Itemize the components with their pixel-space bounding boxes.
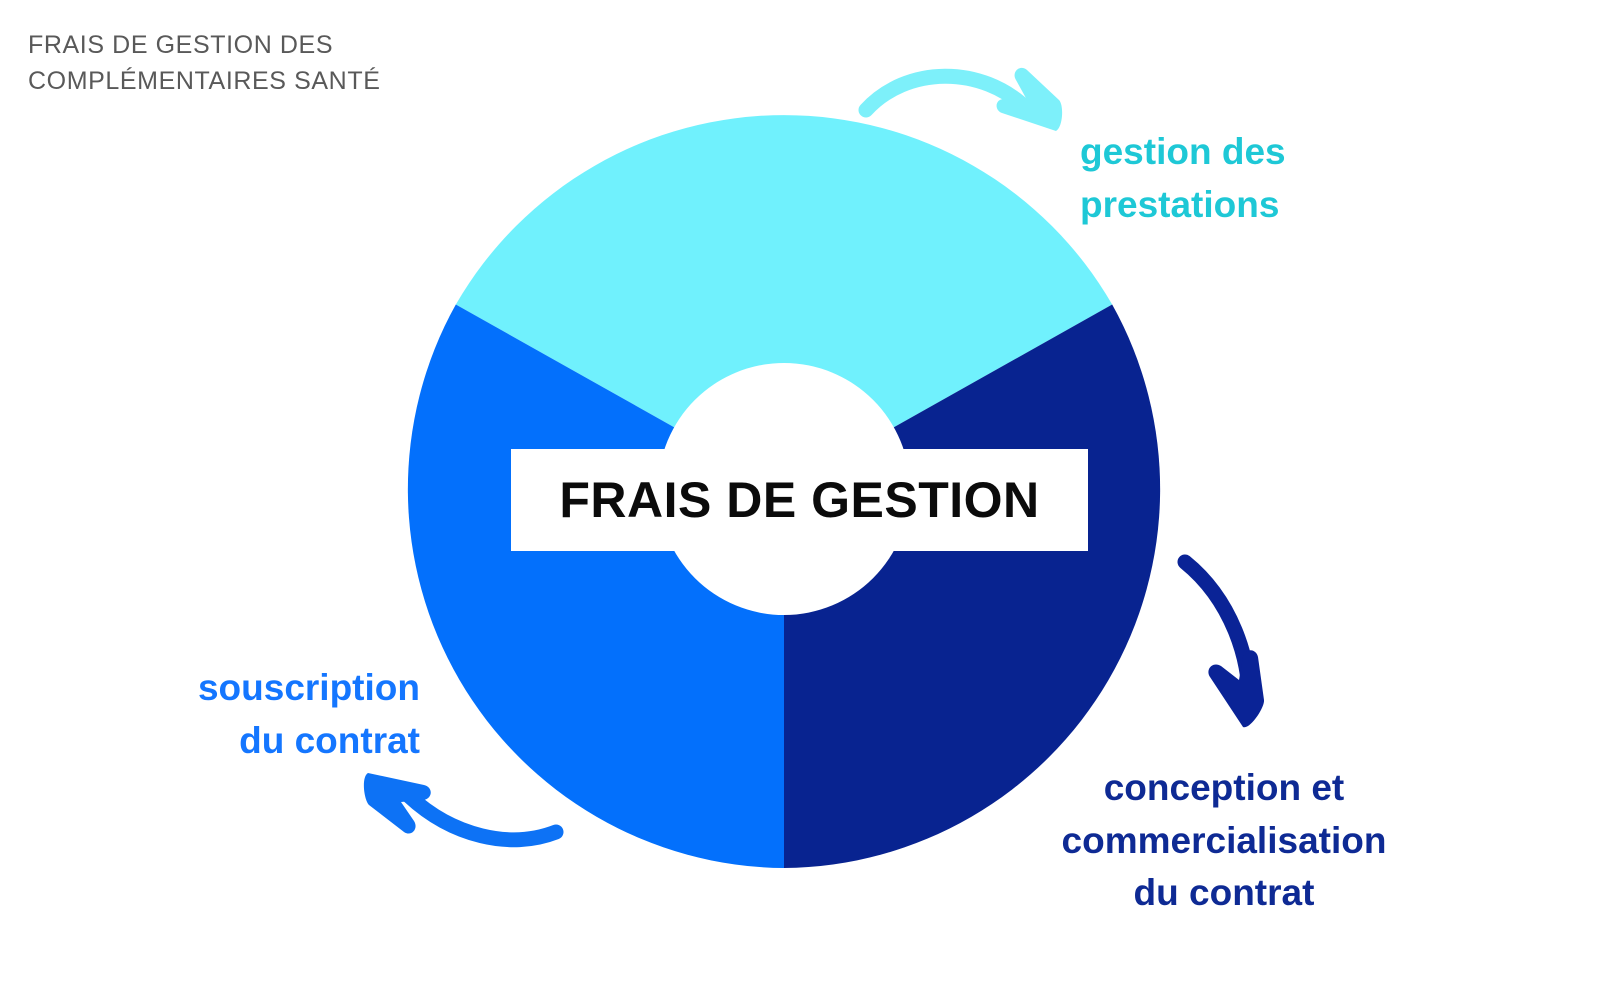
segment-label-conception-et-commercialisation: conception et commercialisation du contr…	[1018, 762, 1430, 920]
curved-arrow-down-icon	[1185, 562, 1264, 727]
curved-arrow-right-icon	[866, 68, 1062, 131]
curved-arrow-left-icon	[364, 773, 556, 840]
segment-label-souscription-du-contrat: souscription du contrat	[120, 662, 420, 767]
frais-de-gestion-wheel-diagram: FRAIS DE GESTION gestion des prestations…	[0, 0, 1600, 1000]
segment-label-gestion-des-prestations: gestion des prestations	[1080, 126, 1380, 231]
center-label-text: FRAIS DE GESTION	[559, 471, 1039, 529]
center-label-band: FRAIS DE GESTION	[511, 449, 1088, 551]
